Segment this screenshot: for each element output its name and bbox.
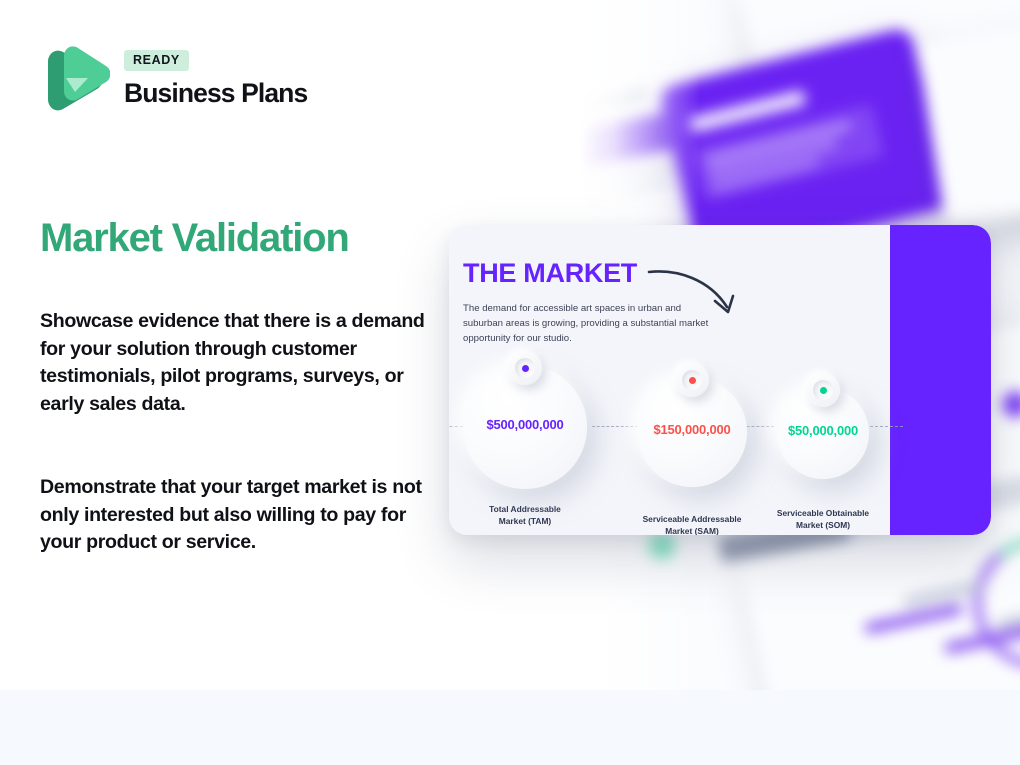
gauge-tam-label-line1: Total Addressable <box>489 504 561 514</box>
gauge-som-knob-inner <box>813 380 833 400</box>
gauge-sam-value: $150,000,000 <box>653 422 730 437</box>
market-slide-card: THE MARKET The demand for accessible art… <box>449 225 991 535</box>
gauge-som-knob <box>806 373 840 407</box>
gauge-som-value: $50,000,000 <box>788 423 858 438</box>
brand-logo-row: READY Business Plans <box>42 40 307 116</box>
body-paragraph-1: Showcase evidence that there is a demand… <box>40 308 426 418</box>
slide-canvas: THE MARKET The demand for accessible art… <box>0 0 1020 765</box>
gauge-som-label: Serviceable Obtainable Market (SOM) <box>777 507 869 531</box>
page-title: Market Validation <box>40 216 349 261</box>
gauge-indicator-dot-sam <box>689 377 696 384</box>
gauge-tam-knob <box>508 351 542 385</box>
ready-badge: READY <box>124 50 189 71</box>
double-play-triangle-logo-icon <box>42 40 110 116</box>
gauge-sam-knob-inner <box>682 370 702 390</box>
gauge-tam-label-line2: Market (TAM) <box>499 516 551 526</box>
gauge-som-label-line1: Serviceable Obtainable <box>777 508 869 518</box>
body-paragraph-2: Demonstrate that your target market is n… <box>40 474 426 557</box>
gauge-tam-label: Total Addressable Market (TAM) <box>489 503 561 527</box>
gauge-som-label-line2: Market (SOM) <box>796 520 850 530</box>
gauge-sam-label-line2: Market (SAM) <box>665 526 719 535</box>
bottom-strip <box>0 690 1020 765</box>
gauge-indicator-dot-tam <box>522 365 529 372</box>
brand-name: Business Plans <box>124 78 307 109</box>
gauge-sam-label-line1: Serviceable Addressable <box>643 514 742 524</box>
gauge-indicator-dot-som <box>820 387 827 394</box>
brand-text-block: READY Business Plans <box>124 48 307 109</box>
gauge-tam-knob-inner <box>515 358 535 378</box>
gauge-tam-value: $500,000,000 <box>486 417 563 432</box>
gauge-sam-label: Serviceable Addressable Market (SAM) <box>643 513 742 535</box>
market-gauges: $500,000,000 Total Addressable Market (T… <box>449 225 991 535</box>
gauge-sam-knob <box>675 363 709 397</box>
